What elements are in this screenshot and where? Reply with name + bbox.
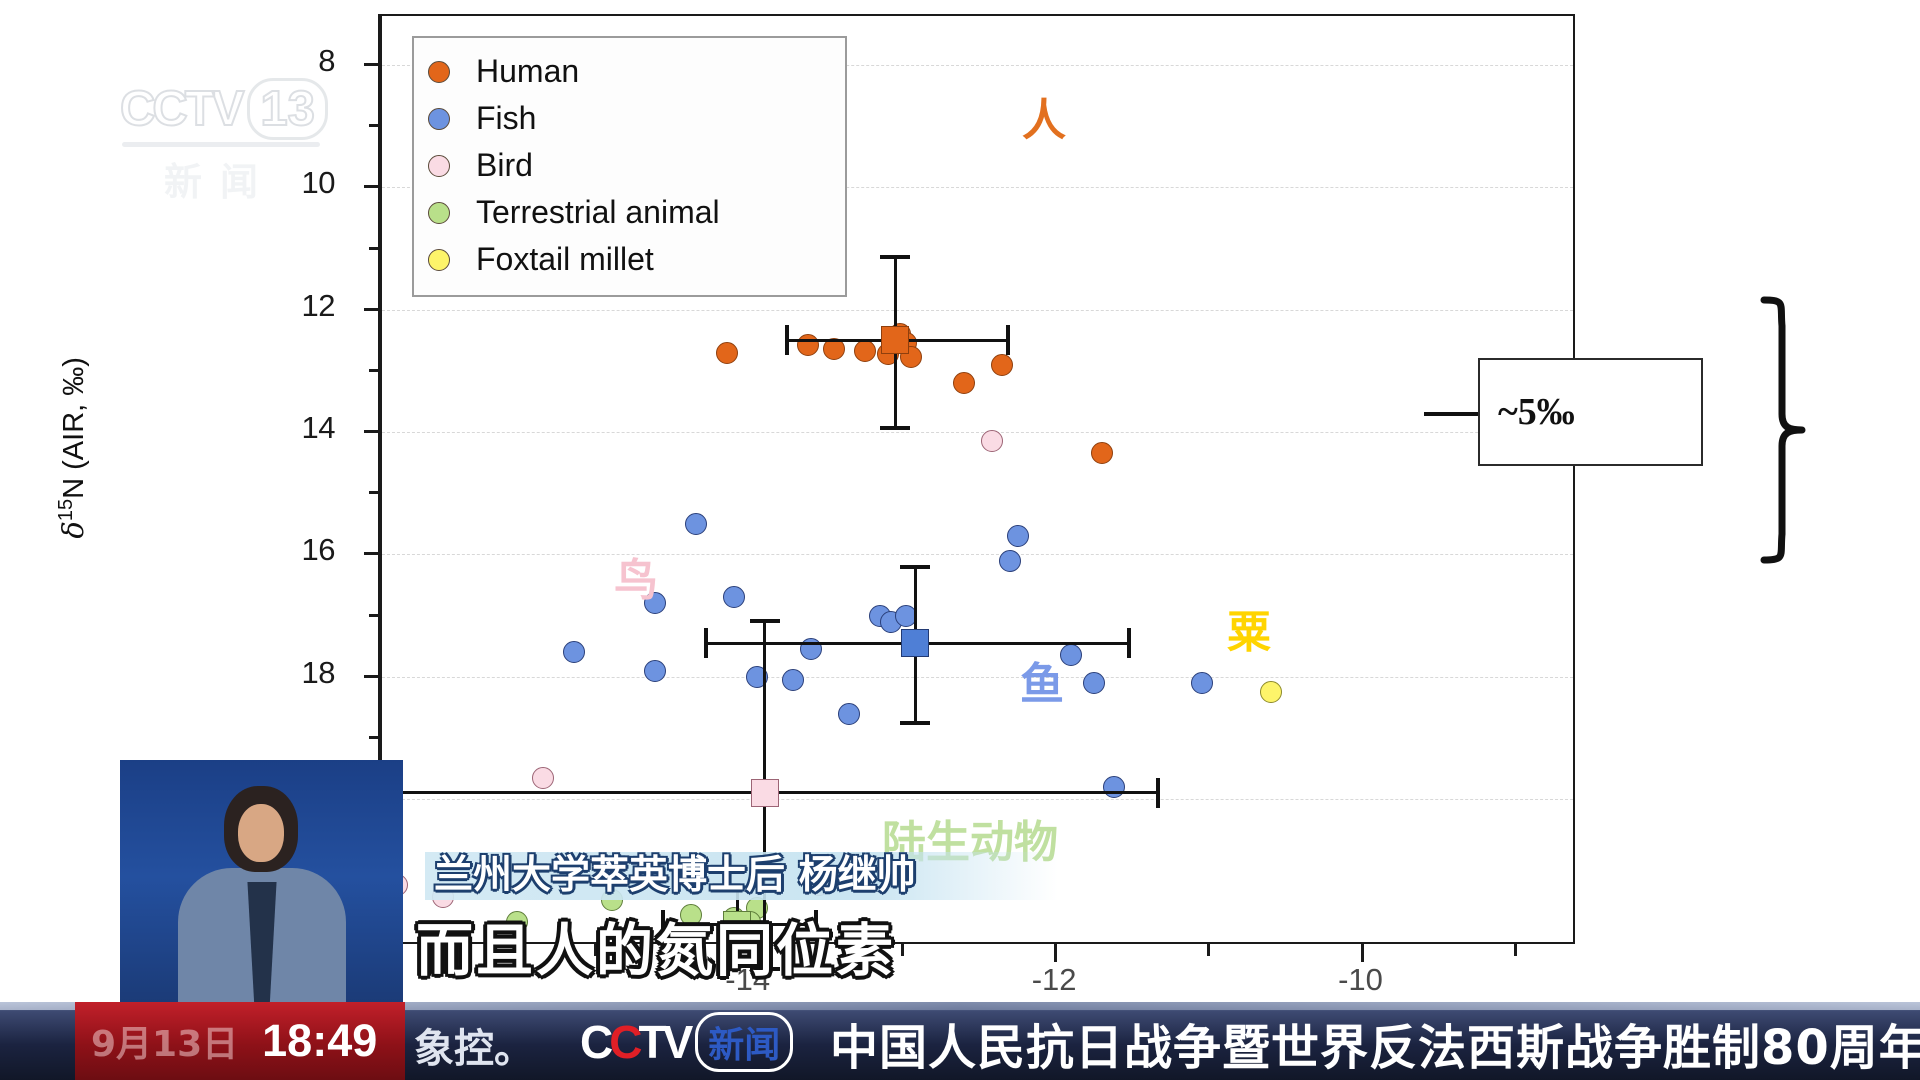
data-point-human [854, 340, 876, 362]
data-point-human [823, 338, 845, 360]
mean-marker-fish [901, 629, 929, 657]
x-axis-tick-label: -10 [1316, 962, 1406, 998]
data-point-fish [782, 669, 804, 691]
x-axis-minor-tick [1207, 944, 1210, 956]
mean-marker-human [881, 326, 909, 354]
data-point-fish [644, 660, 666, 682]
data-point-human [797, 334, 819, 356]
y-axis-tick [364, 308, 380, 311]
data-point-fish [563, 641, 585, 663]
legend: HumanFishBirdTerrestrial animalFoxtail m… [412, 36, 847, 297]
data-point-fish [999, 550, 1021, 572]
y-axis-rest: N (AIR, ‰) [58, 357, 90, 499]
callout-stem [1424, 412, 1480, 416]
data-point-human [1091, 442, 1113, 464]
data-point-fish [1191, 672, 1213, 694]
error-bar-cap [1006, 325, 1010, 355]
data-point-fish [723, 586, 745, 608]
y-axis-delta: δ [56, 521, 90, 538]
y-axis-tick [364, 63, 380, 66]
y-axis-minor-tick [369, 247, 380, 250]
error-bar-cap [785, 325, 789, 355]
error-bar-cap [1127, 628, 1131, 658]
legend-item-human[interactable]: Human [428, 48, 831, 95]
x-axis-minor-tick [901, 944, 904, 956]
ticker-news-badge: 新闻 [695, 1012, 793, 1072]
legend-label: Human [476, 53, 579, 90]
y-axis-minor-tick [369, 736, 380, 739]
legend-label: Fish [476, 100, 536, 137]
error-bar-cap [880, 255, 910, 259]
data-point-fish [1103, 776, 1125, 798]
data-point-human [716, 342, 738, 364]
y-axis-tick-label: 18 [245, 655, 335, 691]
error-bar-cap [750, 619, 780, 623]
data-point-fish [685, 513, 707, 535]
data-point-millet [1260, 681, 1282, 703]
brace-icon [1760, 296, 1806, 564]
x-axis-tick-label: -12 [1009, 962, 1099, 998]
cn-label-millet: 粟 [1227, 596, 1271, 660]
anchor-video-inset [120, 760, 403, 1020]
legend-swatch-icon [428, 108, 450, 130]
clock-box: 9月13日 18:49 [75, 1002, 405, 1080]
x-axis-minor-tick [1514, 944, 1517, 956]
legend-item-bird[interactable]: Bird [428, 142, 831, 189]
legend-item-foxtail-millet[interactable]: Foxtail millet [428, 236, 831, 283]
clock-date: 9月13日 [91, 1015, 238, 1067]
legend-item-fish[interactable]: Fish [428, 95, 831, 142]
legend-swatch-icon [428, 249, 450, 271]
cn-label-human: 人 [1022, 84, 1066, 148]
speaker-name-title: 兰州大学萃英博士后 杨继帅 [434, 844, 916, 900]
error-bar-cap [900, 721, 930, 725]
y-axis-tick-label: 16 [245, 532, 335, 568]
y-axis-tick-label: 10 [245, 165, 335, 201]
anchor-face [238, 804, 284, 862]
cn-label-bird: 鸟 [614, 544, 658, 608]
anchor-body [178, 868, 346, 1020]
gridline [382, 554, 1573, 555]
gridline [382, 799, 1573, 800]
mean-marker-bird [751, 779, 779, 807]
y-axis-tick-label: 14 [245, 410, 335, 446]
left-white-margin [0, 760, 120, 1002]
data-point-fish [838, 703, 860, 725]
x-axis-tick [1361, 944, 1364, 962]
y-axis-tick-label: 8 [245, 43, 335, 79]
y-axis-superscript: 15 [55, 499, 77, 521]
legend-label: Foxtail millet [476, 241, 654, 278]
gridline [382, 677, 1573, 678]
y-axis-tick [364, 430, 380, 433]
legend-swatch-icon [428, 61, 450, 83]
callout-box: ~5‰ [1478, 358, 1703, 466]
ticker-cctv-text: CCTV [580, 1015, 689, 1069]
legend-label: Terrestrial animal [476, 194, 720, 231]
anchor-shirt [236, 882, 288, 1020]
data-point-human [991, 354, 1013, 376]
gridline [382, 310, 1573, 311]
y-axis-title: δ15N (AIR, ‰) [55, 283, 91, 613]
data-point-fish [1007, 525, 1029, 547]
callout-text: ~5‰ [1498, 390, 1575, 434]
y-axis-tick [364, 185, 380, 188]
cctv-news-logo: CCTV 新闻 [580, 1012, 793, 1072]
cn-label-fish: 鱼 [1020, 648, 1064, 712]
y-axis-minor-tick [369, 369, 380, 372]
data-point-bird [981, 430, 1003, 452]
gridline [382, 432, 1573, 433]
x-axis-tick [1054, 944, 1057, 962]
y-axis-minor-tick [369, 124, 380, 127]
error-bar-cap [1156, 778, 1160, 808]
error-bar-cap [880, 426, 910, 430]
anchor-head [224, 786, 298, 872]
data-point-bird [532, 767, 554, 789]
clock-time: 18:49 [262, 1015, 377, 1067]
ticker-headline: 中国人民抗日战争暨世界反法西斯战争胜制80周年 [830, 1008, 1920, 1078]
data-point-fish [1083, 672, 1105, 694]
y-axis-tick-label: 12 [245, 288, 335, 324]
legend-swatch-icon [428, 155, 450, 177]
y-axis-minor-tick [369, 614, 380, 617]
data-point-human [953, 372, 975, 394]
legend-swatch-icon [428, 202, 450, 224]
legend-item-terrestrial-animal[interactable]: Terrestrial animal [428, 189, 831, 236]
legend-label: Bird [476, 147, 533, 184]
y-axis-minor-tick [369, 491, 380, 494]
ticker-tail-text: 象控。 [414, 1016, 534, 1074]
screen: δ15N (AIR, ‰) 人 鱼 鸟 陆生动物 粟 -14-12-10 Hum… [0, 0, 1920, 1080]
error-bar-cap [704, 628, 708, 658]
y-axis-tick [364, 552, 380, 555]
error-bar-cap [900, 565, 930, 569]
subtitle-caption: 而且人的氮同位素 [416, 905, 896, 987]
y-axis-tick [364, 675, 380, 678]
